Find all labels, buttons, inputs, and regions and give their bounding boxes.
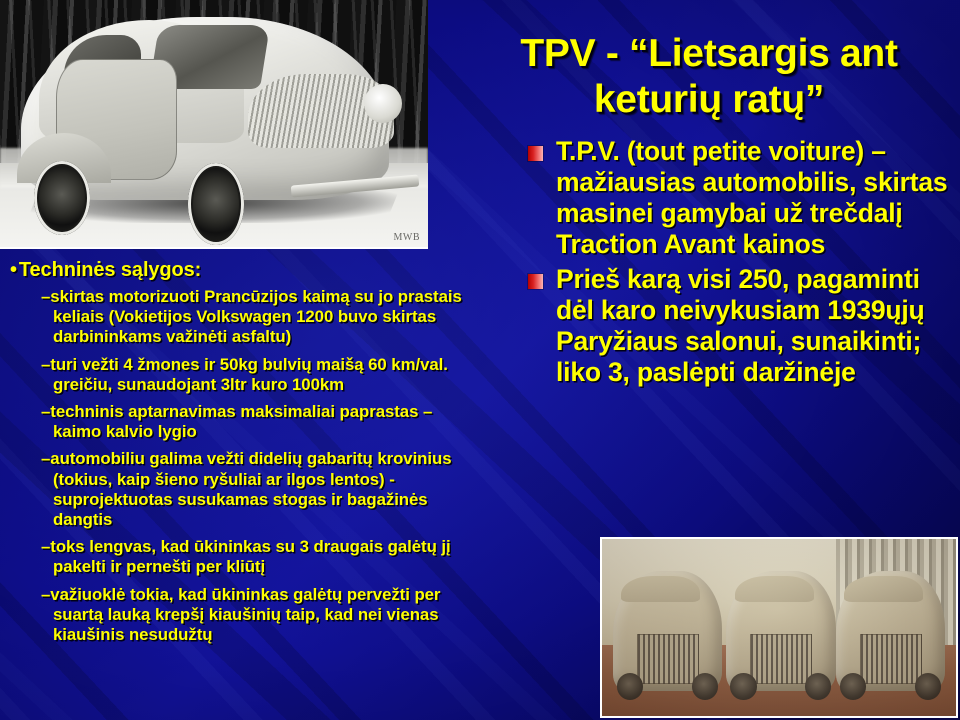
photo-watermark: MWB	[394, 232, 421, 243]
slide-title-line-2: keturių ratų”	[466, 77, 952, 123]
left-sub-item-1: –skirtas motorizuoti Prancūzijos kaimą s…	[6, 287, 476, 348]
left-text-block: •Techninės sąlygos: –skirtas motorizuoti…	[6, 258, 476, 652]
rear-wheel	[34, 161, 90, 235]
slide-title-line-1: TPV - “Lietsargis ant	[466, 31, 952, 77]
red-square-bullet-icon	[528, 274, 543, 289]
photo-tint-overlay	[602, 539, 956, 716]
left-heading: •Techninės sąlygos:	[6, 258, 476, 283]
tpv-prototype-photo: MWB	[0, 0, 428, 249]
right-bullet-list: T.P.V. (tout petite voiture) – mažiausia…	[528, 136, 956, 392]
left-sub-item-2: –turi vežti 4 žmones ir 50kg bulvių maiš…	[6, 355, 476, 395]
right-bullet-text-1: T.P.V. (tout petite voiture) – mažiausia…	[556, 136, 956, 260]
slide-title: TPV - “Lietsargis ant keturių ratų”	[466, 31, 952, 123]
red-square-bullet-icon	[528, 146, 543, 161]
list-item: Prieš karą visi 250, pagaminti dėl karo …	[528, 264, 956, 388]
front-wheel	[188, 163, 244, 245]
left-sub-item-5: –toks lengvas, kad ūkininkas su 3 drauga…	[6, 537, 476, 577]
left-sub-item-4: –automobiliu galima vežti didelių gabari…	[6, 449, 476, 530]
list-item: T.P.V. (tout petite voiture) – mažiausia…	[528, 136, 956, 260]
left-sub-item-3: –techninis aptarnavimas maksimaliai papr…	[6, 402, 476, 442]
slide-canvas: MWB TPV - “Lietsargis ant keturių ratų” …	[0, 0, 960, 720]
round-bullet-icon: •	[10, 259, 17, 281]
left-heading-label: Techninės sąlygos:	[19, 259, 201, 281]
right-bullet-text-2: Prieš karą visi 250, pagaminti dėl karo …	[556, 264, 956, 388]
left-sub-item-6: –važiuoklė tokia, kad ūkininkas galėtų p…	[6, 585, 476, 646]
barn-prototypes-photo	[600, 537, 958, 718]
